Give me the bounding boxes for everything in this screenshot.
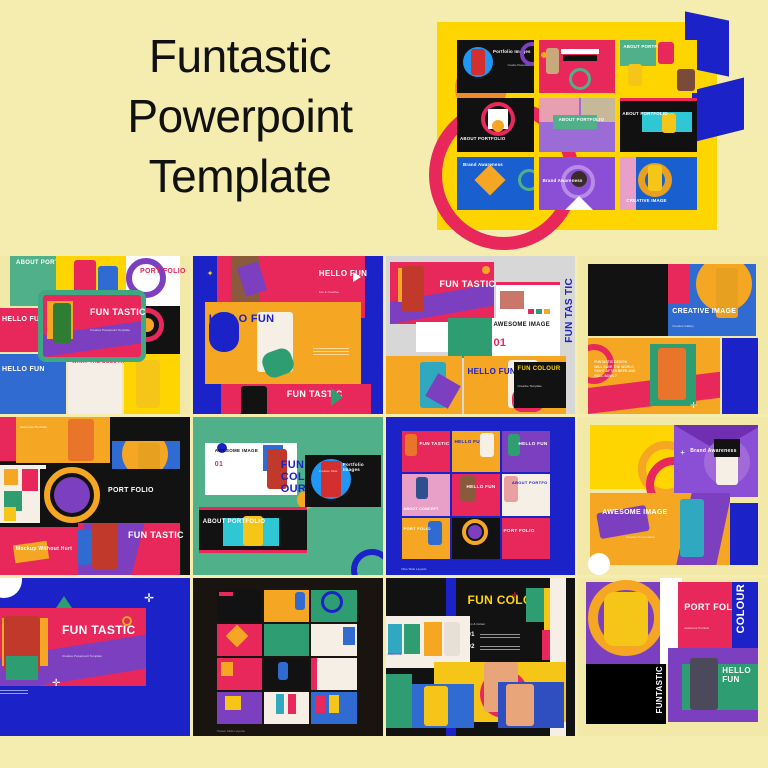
header: Funtastic Powerpoint Template Portfolio …	[0, 0, 768, 252]
tile-3-caption-3: 01	[494, 338, 507, 349]
tile-7-slide-9: PORT FOLIO	[502, 518, 550, 559]
tile-7-slide-4: ABOUT CONCEPT	[402, 474, 450, 515]
page-title: Funtastic Powerpoint Template	[60, 26, 420, 206]
hero-slide-6-title: ABOUT PORTFOLIO	[622, 112, 667, 117]
gallery-tile-2[interactable]: HELLO FUN Fun & Creative HELLO FUN ✦ FUN…	[193, 256, 383, 414]
gallery-tile-12[interactable]: PORT FOLIO Awesome Portfolio COLOUR FUNT…	[578, 578, 768, 736]
tile-7-slide-8	[452, 518, 500, 559]
hero-slide-2[interactable]	[539, 40, 616, 93]
hero-slide-9[interactable]: CREATIVE IMAGE	[620, 157, 697, 210]
tile-2-subtitle: Fun & Creative	[319, 290, 359, 294]
tile-7-slide-3: HELLO FUN	[502, 431, 550, 472]
tile-10-slide-7	[217, 658, 262, 690]
tile-5-caption-2: PORT FOLIO	[108, 487, 154, 494]
gallery-tile-9[interactable]: ✛ FUN TASTIC Creative Powerpoint Templat…	[0, 578, 190, 736]
tile-7-slide-7: PORT FOLIO	[402, 518, 450, 559]
tile-1-subtitle: Creative Powerpoint Template	[90, 328, 134, 332]
tile-4-subtitle: Creative Gallery	[672, 324, 722, 328]
hero-slide-4-title: ABOUT PORTFOLIO	[460, 137, 505, 142]
gallery-tile-4[interactable]: CREATIVE IMAGE Creative Gallery FUNTASTI…	[578, 256, 768, 414]
tile-6-caption-2: 01	[215, 461, 223, 468]
hero-slide-8-title: Brand Awareness	[543, 179, 583, 184]
tile-4-caption-1: CREATIVE IMAGE	[672, 308, 736, 315]
hero-slide-9-title: CREATIVE IMAGE	[626, 199, 666, 204]
tile-10-slide-1	[217, 590, 262, 622]
tile-8-caption-2: AWESOME IMAGE	[602, 509, 667, 516]
tile-7-subtitle: Nine Slide Layouts	[402, 567, 427, 571]
tile-3-subtitle: Creative Template	[518, 384, 558, 388]
tile-8-caption-1: Brand Awareness	[690, 449, 736, 454]
tile-12-caption-4: HELLO FUN	[722, 666, 768, 684]
title-line-3: Template	[60, 146, 420, 206]
tile-10-slide-2	[264, 590, 309, 622]
gallery-tile-5[interactable]: Awesome Portfolio CREATIVE IMAGE PORT FO…	[0, 417, 190, 575]
hero-slide-5-title: ABOUT PORTFOLIO	[559, 118, 604, 123]
tile-10-slide-grid	[217, 590, 357, 724]
tile-6-caption-4: Portfolio Images	[343, 463, 383, 472]
tile-10-slide-3	[311, 590, 356, 622]
tile-9-caption-1: FUN TASTIC	[62, 624, 135, 637]
title-line-1: Funtastic	[60, 26, 420, 86]
gallery-tile-11[interactable]: FUN COLOUR Fun & Colour 01 02 ✛ Awesome.	[386, 578, 576, 736]
tile-5-caption-4: Mockup Without Hurt	[16, 547, 72, 552]
hero-slide-7[interactable]: Brand Awareness	[457, 157, 534, 210]
tile-5-subtitle: Awesome Portfolio	[20, 425, 54, 429]
tile-9-subtitle: Creative Powerpoint Template	[62, 654, 118, 658]
tile-10-subtitle: Twelve Slide Layouts	[217, 729, 245, 733]
tile-1-caption-2: PORT FOLIO	[140, 268, 186, 275]
tile-6-caption-5: ABOUT PORTFOLIO	[203, 519, 266, 525]
tile-8-subtitle: Creative Presentation	[626, 535, 670, 539]
tile-5-caption-3: FUN TASTIC	[128, 531, 184, 540]
gallery-tile-1[interactable]: ABOUT PORTFO PORT FOLIO HELLO FUN HELLO …	[0, 256, 190, 414]
tile-12-caption-3: FUNTASTIC	[656, 666, 664, 713]
tile-7-slide-2: HELLO FUN	[452, 431, 500, 472]
gallery-tile-8[interactable]: Brand Awareness + AWESOME IMAGE Creative…	[578, 417, 768, 575]
tile-3-caption-4: HELLO FUN	[468, 368, 516, 376]
tile-10-slide-6	[311, 624, 356, 656]
hero-slide-3[interactable]: ABOUT PORTFO LIO	[620, 40, 697, 93]
tile-7-slide-grid: FUN TASTIC HELLO FUN HELLO FUN ABOUT CON…	[402, 431, 550, 559]
tile-1-caption-4b: HELLO FUN	[2, 366, 45, 373]
hero-slide-8[interactable]: Brand Awareness	[539, 157, 616, 210]
tile-3-caption-1: FUN TASTIC	[440, 280, 496, 289]
tile-7-slide-5: HELLO FUN	[452, 474, 500, 515]
tile-1-caption-3: FUN TASTIC	[90, 308, 146, 317]
gallery-tile-10[interactable]: Twelve Slide Layouts	[193, 578, 383, 736]
tile-10-slide-12	[311, 692, 356, 724]
gallery-tile-3[interactable]: FUN TASTIC FUN TAS TIC AWESOME IMAGE 01	[386, 256, 576, 414]
tile-12-caption-2: COLOUR	[736, 584, 747, 633]
tile-10-slide-5	[264, 624, 309, 656]
tile-10-slide-9	[311, 658, 356, 690]
tile-10-slide-4	[217, 624, 262, 656]
hero-slide-5[interactable]: ABOUT PORTFOLIO	[539, 98, 616, 151]
tile-7-slide-1: FUN TASTIC	[402, 431, 450, 472]
tile-7-slide-6: ABOUT PORTFO	[502, 474, 550, 515]
tile-3-caption-5: FUN COLOUR	[518, 366, 561, 372]
tile-6-caption-1: AWESOME IMAGE	[215, 449, 258, 454]
hero-slide-grid: Portfolio Images Creative Presentation A…	[457, 40, 697, 210]
poster-root: Funtastic Powerpoint Template Portfolio …	[0, 0, 768, 768]
tile-10-slide-11	[264, 692, 309, 724]
gallery-tile-7[interactable]: FUN TASTIC HELLO FUN HELLO FUN ABOUT CON…	[386, 417, 576, 575]
hero-slide-7-title: Brand Awareness	[463, 163, 503, 168]
tile-12-subtitle: Awesome Portfolio	[684, 626, 726, 630]
hero-slide-1[interactable]: Portfolio Images Creative Presentation	[457, 40, 534, 93]
tile-2-caption-2: HELLO FUN	[209, 314, 275, 325]
tile-3-caption-2: AWESOME IMAGE	[494, 322, 551, 328]
tile-4-caption-2: FUNTASTIC DESIGN WILL SAVE THE WORLD RIG…	[594, 360, 636, 378]
tile-10-slide-8	[264, 658, 309, 690]
tile-3-caption-6: FUN TAS TIC	[565, 278, 575, 343]
gallery-tile-6[interactable]: AWESOME IMAGE 01 FUN COL OUR Creative Sl…	[193, 417, 383, 575]
slide-preview-gallery: ABOUT PORTFO PORT FOLIO HELLO FUN HELLO …	[0, 256, 768, 736]
hero-slide-4[interactable]: ABOUT PORTFOLIO	[457, 98, 534, 151]
tile-11-subtitle: Fun & Colour	[468, 622, 486, 626]
hero-slide-6[interactable]: ABOUT PORTFOLIO	[620, 98, 697, 151]
hero-preview-panel[interactable]: Portfolio Images Creative Presentation A…	[437, 22, 717, 230]
title-line-2: Powerpoint	[60, 86, 420, 146]
tile-10-slide-10	[217, 692, 262, 724]
